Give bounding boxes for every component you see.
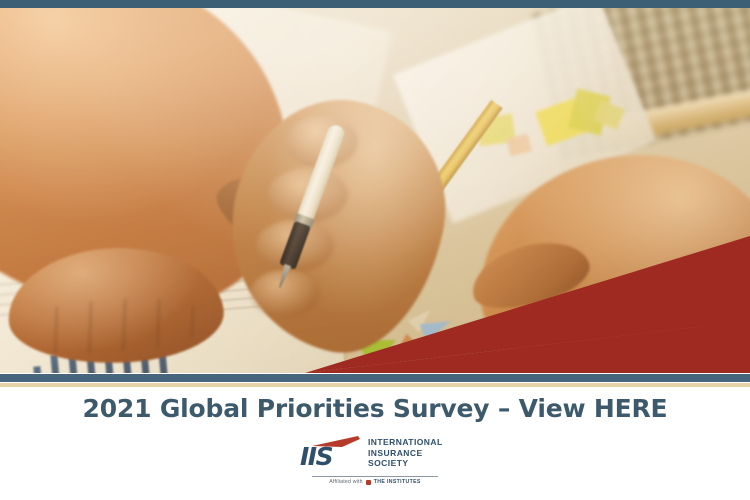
logo-name-line-3: SOCIETY [368, 458, 443, 469]
top-accent-bar [0, 0, 750, 8]
logo-name-line-1: INTERNATIONAL [368, 437, 443, 448]
logo-affiliation: Affiliated with THE INSTITUTES [300, 479, 450, 485]
logo-block[interactable]: IIS INTERNATIONAL INSURANCE SOCIETY Affi… [0, 435, 750, 491]
iis-survey-banner: 2021 Global Priorities Survey – View HER… [0, 0, 750, 500]
hero-photo [0, 8, 750, 373]
logo-primary-row: IIS INTERNATIONAL INSURANCE SOCIETY [300, 435, 450, 473]
divider-rule-gold [0, 383, 750, 387]
logo-divider [312, 476, 438, 477]
banner-title[interactable]: 2021 Global Priorities Survey – View HER… [0, 392, 750, 426]
iis-logo[interactable]: IIS INTERNATIONAL INSURANCE SOCIETY Affi… [300, 435, 450, 491]
logo-mark: IIS [300, 435, 362, 473]
logo-monogram: IIS [300, 444, 332, 470]
institutes-mark-icon [366, 480, 371, 485]
affiliation-org: THE INSTITUTES [374, 479, 421, 485]
photo-warm-tint [0, 8, 750, 373]
logo-name-line-2: INSURANCE [368, 448, 443, 459]
logo-wordmark: INTERNATIONAL INSURANCE SOCIETY [368, 435, 443, 469]
caption-block: 2021 Global Priorities Survey – View HER… [0, 392, 750, 426]
divider-rule-blue [0, 373, 750, 383]
affiliation-prefix: Affiliated with [329, 479, 362, 485]
